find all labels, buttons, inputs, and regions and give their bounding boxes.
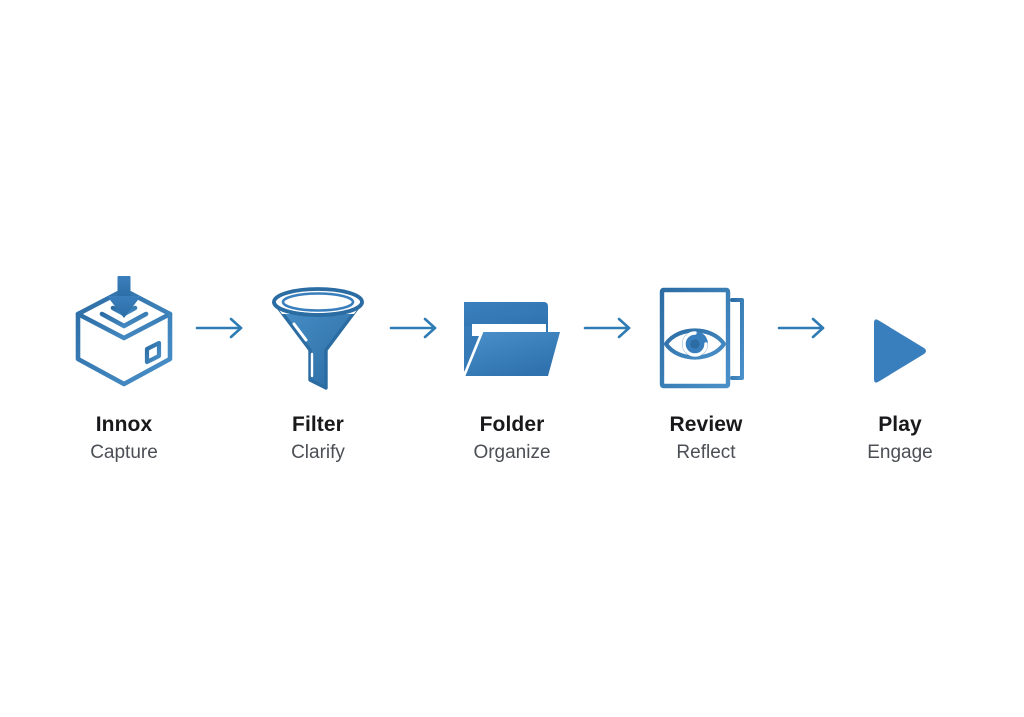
arrow-right-icon: [195, 316, 247, 340]
step-title: Filter: [292, 414, 344, 436]
open-folder-icon-container: [452, 278, 572, 388]
step-subtitle: Capture: [90, 443, 158, 463]
funnel-icon-container: [258, 278, 378, 388]
arrow-right-icon: [583, 316, 635, 340]
workflow-step-filter[interactable]: Filter Clarify: [253, 278, 383, 463]
step-subtitle: Reflect: [676, 443, 735, 463]
play-triangle-icon-container: [840, 278, 960, 388]
connector-4: [771, 278, 835, 388]
funnel-icon: [266, 280, 370, 388]
step-subtitle: Organize: [473, 443, 550, 463]
arrow-right-icon: [389, 316, 441, 340]
connector-2: [383, 278, 447, 388]
step-subtitle: Clarify: [291, 443, 345, 463]
step-title: Innox: [96, 414, 153, 436]
connector-1: [189, 278, 253, 388]
step-title: Play: [878, 414, 922, 436]
connector-3: [577, 278, 641, 388]
inbox-box-icon: [69, 276, 179, 388]
workflow-step-folder[interactable]: Folder Organize: [447, 278, 577, 463]
step-title: Folder: [480, 414, 545, 436]
play-triangle-icon: [868, 314, 932, 388]
step-title: Review: [670, 414, 743, 436]
inbox-box-icon-container: [64, 278, 184, 388]
workflow-step-innox[interactable]: Innox Capture: [59, 278, 189, 463]
workflow-step-review[interactable]: Review Reflect: [641, 278, 771, 463]
document-eye-icon-container: [646, 278, 766, 388]
workflow-diagram: Innox Capture: [0, 0, 1024, 717]
open-folder-icon: [460, 292, 564, 388]
workflow-steps-row: Innox Capture: [0, 278, 1024, 463]
step-subtitle: Engage: [867, 443, 933, 463]
workflow-step-play[interactable]: Play Engage: [835, 278, 965, 463]
arrow-right-icon: [777, 316, 829, 340]
document-eye-icon: [656, 286, 756, 388]
